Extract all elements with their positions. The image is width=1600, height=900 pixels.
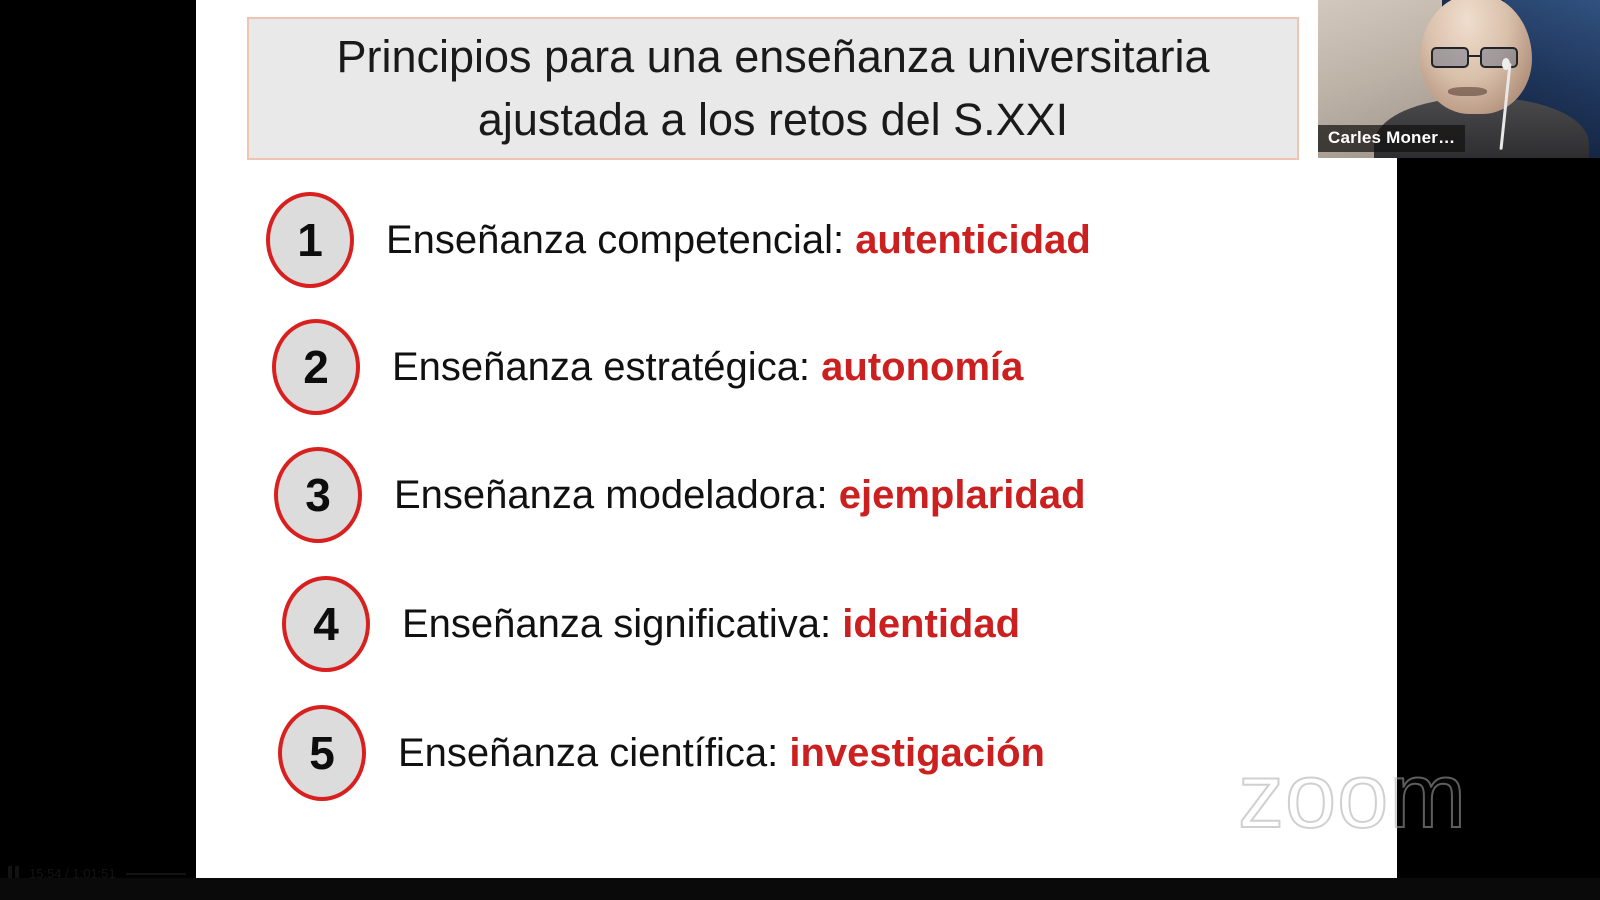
bottom-letterbox bbox=[0, 878, 1600, 900]
badge-number: 5 bbox=[309, 730, 335, 776]
badge-number: 2 bbox=[303, 344, 329, 390]
page-title: Principios para una enseñanza universita… bbox=[322, 26, 1223, 150]
principle-label: Enseñanza estratégica: bbox=[392, 345, 821, 389]
principle-keyword: investigación bbox=[789, 731, 1045, 775]
list-item: 5 Enseñanza científica: investigación bbox=[278, 705, 1045, 801]
list-item: 1 Enseñanza competencial: autenticidad bbox=[266, 192, 1091, 288]
video-feed-mouth bbox=[1448, 87, 1487, 96]
glasses-right-lens bbox=[1480, 47, 1518, 68]
principle-keyword: ejemplaridad bbox=[839, 473, 1086, 517]
principle-keyword: autonomía bbox=[821, 345, 1023, 389]
principle-text: Enseñanza científica: investigación bbox=[398, 733, 1045, 773]
title-line-2: ajustada a los retos del S.XXI bbox=[336, 89, 1209, 151]
principle-label: Enseñanza modeladora: bbox=[394, 473, 839, 517]
principle-text: Enseñanza significativa: identidad bbox=[402, 604, 1020, 644]
participant-video-thumbnail[interactable]: Carles Moner… bbox=[1318, 0, 1600, 158]
badge-number: 3 bbox=[305, 472, 331, 518]
list-item: 4 Enseñanza significativa: identidad bbox=[282, 576, 1020, 672]
number-badge: 1 bbox=[266, 192, 354, 288]
principle-label: Enseñanza competencial: bbox=[386, 218, 855, 262]
principle-label: Enseñanza científica: bbox=[398, 731, 789, 775]
principle-text: Enseñanza competencial: autenticidad bbox=[386, 220, 1091, 260]
slide-title-banner: Principios para una enseñanza universita… bbox=[247, 17, 1299, 160]
list-item: 3 Enseñanza modeladora: ejemplaridad bbox=[274, 447, 1086, 543]
badge-number: 4 bbox=[313, 601, 339, 647]
number-badge: 2 bbox=[272, 319, 360, 415]
title-line-1: Principios para una enseñanza universita… bbox=[336, 26, 1209, 88]
principle-keyword: identidad bbox=[842, 602, 1020, 646]
principle-label: Enseñanza significativa: bbox=[402, 602, 842, 646]
glasses-left-lens bbox=[1431, 47, 1469, 68]
participant-name-label: Carles Moner… bbox=[1318, 125, 1465, 152]
number-badge: 3 bbox=[274, 447, 362, 543]
principle-text: Enseñanza modeladora: ejemplaridad bbox=[394, 475, 1086, 515]
badge-number: 1 bbox=[297, 217, 323, 263]
video-player-screen: Principios para una enseñanza universita… bbox=[0, 0, 1600, 900]
player-progress-track[interactable] bbox=[126, 873, 186, 875]
principle-keyword: autenticidad bbox=[855, 218, 1091, 262]
list-item: 2 Enseñanza estratégica: autonomía bbox=[272, 319, 1023, 415]
number-badge: 4 bbox=[282, 576, 370, 672]
principle-text: Enseñanza estratégica: autonomía bbox=[392, 347, 1023, 387]
number-badge: 5 bbox=[278, 705, 366, 801]
glasses-bridge bbox=[1469, 55, 1479, 57]
presentation-slide: Principios para una enseñanza universita… bbox=[196, 0, 1397, 878]
